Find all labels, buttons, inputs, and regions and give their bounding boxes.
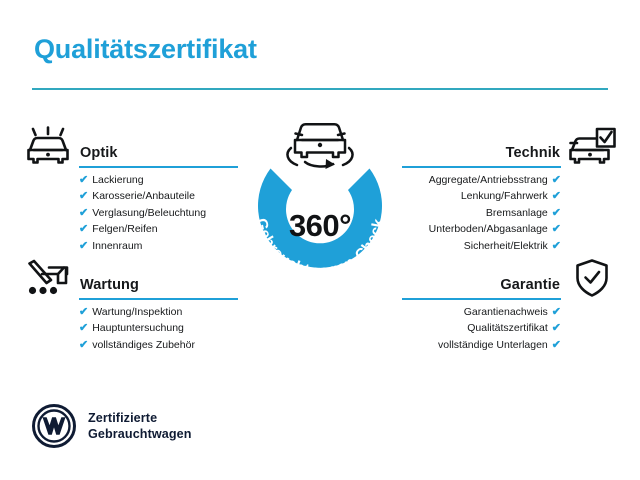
- list-item: ✔Innenraum: [22, 238, 238, 254]
- list-item: Bremsanlage✔: [402, 205, 618, 221]
- badge-value: 360°: [236, 208, 404, 244]
- list-item-label: Aggregate/Antriebsstrang: [429, 172, 548, 188]
- badge-360-check: Gebrauchtwagen-Check 360°: [236, 128, 404, 296]
- check-icon: ✔: [552, 221, 561, 237]
- check-icon: ✔: [79, 320, 88, 336]
- shield-check-icon: [566, 258, 618, 298]
- check-icon: ✔: [552, 238, 561, 254]
- list-item: Sicherheit/Elektrik✔: [402, 238, 618, 254]
- list-item: Lenkung/Fahrwerk✔: [402, 188, 618, 204]
- check-icon: ✔: [79, 238, 88, 254]
- list-item: ✔Hauptuntersuchung: [22, 320, 238, 336]
- section-technik: Technik Aggregate/Antriebsstrang✔ Lenkun…: [402, 126, 618, 254]
- car-checkbox-icon: [566, 126, 618, 166]
- check-icon: ✔: [79, 188, 88, 204]
- section-wartung: Wartung ✔Wartung/Inspektion ✔Hauptunters…: [22, 258, 238, 353]
- section-title: Garantie: [500, 277, 560, 293]
- list-item-label: Wartung/Inspektion: [92, 304, 182, 320]
- list-item: Garantienachweis✔: [402, 304, 618, 320]
- list-item: ✔Wartung/Inspektion: [22, 304, 238, 320]
- checklist-wartung: ✔Wartung/Inspektion ✔Hauptuntersuchung ✔…: [22, 300, 238, 353]
- section-title: Technik: [506, 145, 560, 161]
- car-rotation-icon: [277, 114, 363, 176]
- section-optik: Optik ✔Lackierung ✔Karosserie/Anbauteile…: [22, 126, 238, 254]
- check-icon: ✔: [79, 337, 88, 353]
- check-icon: ✔: [552, 172, 561, 188]
- list-item: vollständige Unterlagen✔: [402, 337, 618, 353]
- brand-line-1: Zertifizierte: [88, 410, 192, 426]
- list-item-label: Sicherheit/Elektrik: [464, 238, 548, 254]
- section-title: Optik: [80, 145, 118, 161]
- list-item-label: vollständiges Zubehör: [92, 337, 195, 353]
- check-icon: ✔: [79, 221, 88, 237]
- checklist-technik: Aggregate/Antriebsstrang✔ Lenkung/Fahrwe…: [402, 168, 618, 254]
- check-icon: ✔: [79, 304, 88, 320]
- section-header: Wartung: [22, 258, 238, 300]
- list-item: Unterboden/Abgasanlage✔: [402, 221, 618, 237]
- list-item: ✔Felgen/Reifen: [22, 221, 238, 237]
- list-item-label: Qualitätszertifikat: [467, 320, 548, 336]
- page-title: Qualitätszertifikat: [34, 34, 257, 65]
- list-item: ✔vollständiges Zubehör: [22, 337, 238, 353]
- section-header: Garantie: [402, 258, 618, 300]
- checklist-optik: ✔Lackierung ✔Karosserie/Anbauteile ✔Verg…: [22, 168, 238, 254]
- section-title: Wartung: [80, 277, 139, 293]
- list-item-label: Karosserie/Anbauteile: [92, 188, 195, 204]
- vw-logo-icon: [32, 404, 76, 448]
- list-item-label: vollständige Unterlagen: [438, 337, 548, 353]
- checklist-garantie: Garantienachweis✔ Qualitätszertifikat✔ v…: [402, 300, 618, 353]
- list-item-label: Hauptuntersuchung: [92, 320, 184, 336]
- certificate-sheet: Qualitätszertifikat: [0, 0, 640, 480]
- list-item-label: Verglasung/Beleuchtung: [92, 205, 206, 221]
- list-item-label: Lackierung: [92, 172, 143, 188]
- list-item-label: Unterboden/Abgasanlage: [429, 221, 548, 237]
- section-divider: [402, 298, 561, 300]
- list-item-label: Lenkung/Fahrwerk: [461, 188, 548, 204]
- check-icon: ✔: [79, 205, 88, 221]
- brand-lockup: Zertifizierte Gebrauchtwagen: [32, 404, 192, 448]
- section-header: Technik: [402, 126, 618, 168]
- check-icon: ✔: [552, 304, 561, 320]
- list-item: ✔Lackierung: [22, 172, 238, 188]
- section-header: Optik: [22, 126, 238, 168]
- title-divider: [32, 88, 608, 90]
- brand-line-2: Gebrauchtwagen: [88, 426, 192, 442]
- list-item-label: Bremsanlage: [486, 205, 548, 221]
- list-item-label: Garantienachweis: [464, 304, 548, 320]
- car-on-lift-icon: [22, 258, 74, 298]
- check-icon: ✔: [552, 320, 561, 336]
- section-divider: [79, 166, 238, 168]
- list-item: ✔Verglasung/Beleuchtung: [22, 205, 238, 221]
- section-divider: [79, 298, 238, 300]
- list-item-label: Innenraum: [92, 238, 142, 254]
- list-item-label: Felgen/Reifen: [92, 221, 157, 237]
- brand-text: Zertifizierte Gebrauchtwagen: [88, 410, 192, 442]
- check-icon: ✔: [552, 205, 561, 221]
- list-item: ✔Karosserie/Anbauteile: [22, 188, 238, 204]
- car-front-shine-icon: [22, 126, 74, 166]
- check-icon: ✔: [552, 337, 561, 353]
- check-icon: ✔: [79, 172, 88, 188]
- section-divider: [402, 166, 561, 168]
- list-item: Qualitätszertifikat✔: [402, 320, 618, 336]
- list-item: Aggregate/Antriebsstrang✔: [402, 172, 618, 188]
- section-garantie: Garantie Garantienachweis✔ Qualitätszert…: [402, 258, 618, 353]
- check-icon: ✔: [552, 188, 561, 204]
